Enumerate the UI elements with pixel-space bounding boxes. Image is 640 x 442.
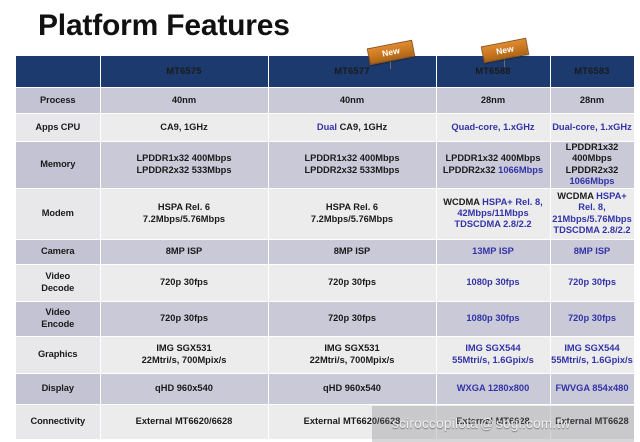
cell-text: 8MP ISP	[166, 246, 203, 256]
cell-text: 40nm	[172, 95, 196, 105]
table-row: ConnectivityExternal MT6620/6628External…	[16, 404, 634, 439]
cell-text: qHD 960x540	[155, 383, 213, 393]
cell-line: 720p 30fps	[269, 277, 436, 288]
table-cell: Dual-core, 1.xGHz	[550, 114, 634, 142]
cell-line: IMG SGX544	[551, 343, 634, 354]
cell-line: qHD 960x540	[101, 383, 268, 394]
cell-text-highlight: WXGA 1280x800	[457, 383, 530, 393]
table-cell: 40nm	[100, 88, 268, 114]
cell-line: 28nm	[437, 95, 550, 106]
table-cell: 28nm	[436, 88, 550, 114]
cell-text-highlight: 1066Mbps	[498, 165, 543, 175]
table-cell: LPDDR1x32 400MbpsLPDDR2x32 533Mbps	[100, 142, 268, 189]
table-row: Camera8MP ISP8MP ISP13MP ISP8MP ISP	[16, 239, 634, 264]
cell-text-highlight: Dual	[317, 122, 340, 132]
table-cell: IMG SGX53122Mtri/s, 700Mpix/s	[100, 336, 268, 373]
table-cell: CA9, 1GHz	[100, 114, 268, 142]
cell-text-highlight: TDSCDMA 2.8/2.2	[553, 225, 630, 235]
cell-line: Dual CA9, 1GHz	[269, 122, 436, 133]
row-label-video-encode: VideoEncode	[16, 301, 100, 336]
table-row: Process40nm40nm28nm28nm	[16, 88, 634, 114]
table-cell: 8MP ISP	[100, 239, 268, 264]
cell-line: FWVGA 854x480	[551, 383, 634, 394]
row-label-process: Process	[16, 88, 100, 114]
cell-text: IMG SGX531	[156, 343, 211, 353]
column-header-mt6575: MT6575	[100, 56, 268, 88]
table-cell: 720p 30fps	[100, 301, 268, 336]
cell-line: 1080p 30fps	[437, 277, 550, 288]
row-label-video-decode: VideoDecode	[16, 264, 100, 301]
cell-text: 7.2Mbps/5.76Mbps	[311, 214, 393, 224]
cell-text-highlight: 1080p 30fps	[466, 313, 519, 323]
table-cell: 8MP ISP	[268, 239, 436, 264]
cell-line: IMG SGX531	[269, 343, 436, 354]
cell-text: WCDMA	[443, 197, 482, 207]
table-row: VideoEncode720p 30fps720p 30fps1080p 30f…	[16, 301, 634, 336]
cell-line: External MT6620/6628	[101, 416, 268, 427]
row-label-line: Decode	[16, 283, 100, 294]
cell-line: 7.2Mbps/5.76Mbps	[269, 214, 436, 225]
row-label-line: Encode	[16, 319, 100, 330]
cell-line: External MT6628	[551, 416, 634, 427]
cell-line: IMG SGX544	[437, 343, 550, 354]
cell-text: External MT6628	[456, 416, 529, 426]
cell-text: HSPA Rel. 6	[326, 202, 378, 212]
cell-line: 8MP ISP	[551, 246, 634, 257]
cell-line: LPDDR2x32 1066Mbps	[551, 165, 634, 188]
cell-text-highlight: IMG SGX544	[465, 343, 520, 353]
cell-text: 28nm	[580, 95, 604, 105]
table-cell: 720p 30fps	[268, 264, 436, 301]
cell-line: WXGA 1280x800	[437, 383, 550, 394]
cell-text-highlight: 42Mbps/11Mbps	[457, 208, 528, 218]
cell-text: 8MP ISP	[334, 246, 371, 256]
cell-text-highlight: Dual-core, 1.xGHz	[552, 122, 632, 132]
table-cell: 28nm	[550, 88, 634, 114]
cell-text: 7.2Mbps/5.76Mbps	[143, 214, 225, 224]
cell-text: IMG SGX531	[324, 343, 379, 353]
cell-line: WCDMA HSPA+ Rel. 8,	[437, 197, 550, 208]
table-cell: External MT6620/6628	[100, 404, 268, 439]
cell-line: HSPA Rel. 6	[101, 202, 268, 213]
table-cell: WXGA 1280x800	[436, 373, 550, 404]
table-header-row: MT6575MT6577MT6588MT6583	[16, 56, 634, 88]
cell-line: 28nm	[551, 95, 634, 106]
cell-text: LPDDR2x32	[443, 165, 498, 175]
table-cell: qHD 960x540	[100, 373, 268, 404]
cell-text: External MT6620/6628	[136, 416, 233, 426]
cell-line: 55Mtri/s, 1.6Gpix/s	[437, 355, 550, 366]
cell-line: LPDDR2x32 533Mbps	[101, 165, 268, 176]
cell-text: LPDDR2x32	[566, 165, 619, 175]
table-cell: IMG SGX53122Mtri/s, 700Mpix/s	[268, 336, 436, 373]
cell-text: 720p 30fps	[160, 313, 208, 323]
cell-text: External MT6620/6628	[304, 416, 401, 426]
table-row: MemoryLPDDR1x32 400MbpsLPDDR2x32 533Mbps…	[16, 142, 634, 189]
cell-line: LPDDR2x32 1066Mbps	[437, 165, 550, 176]
cell-text: 720p 30fps	[328, 277, 376, 287]
cell-text: 40nm	[340, 95, 364, 105]
row-label-line: Video	[16, 307, 100, 318]
cell-text-highlight: 1080p 30fps	[466, 277, 519, 287]
cell-text: LPDDR1x32 400Mbps	[445, 153, 540, 163]
column-header-mt6583: MT6583	[550, 56, 634, 88]
table-cell: IMG SGX54455Mtri/s, 1.6Gpix/s	[550, 336, 634, 373]
table-cell: External MT6628	[550, 404, 634, 439]
cell-line: 720p 30fps	[551, 313, 634, 324]
cell-text-highlight: TDSCDMA 2.8/2.2	[454, 219, 531, 229]
table-cell: qHD 960x540	[268, 373, 436, 404]
table-cell: WCDMA HSPA+ Rel. 8,42Mbps/11MbpsTDSCDMA …	[436, 188, 550, 239]
table-cell: External MT6620/6628	[268, 404, 436, 439]
row-label-apps-cpu: Apps CPU	[16, 114, 100, 142]
cell-line: 40nm	[269, 95, 436, 106]
row-label-display: Display	[16, 373, 100, 404]
cell-text-highlight: IMG SGX544	[564, 343, 619, 353]
cell-text: WCDMA	[557, 191, 596, 201]
cell-text: External MT6628	[555, 416, 628, 426]
cell-line: LPDDR1x32 400Mbps	[551, 142, 634, 165]
cell-line: 8MP ISP	[101, 246, 268, 257]
cell-line: 1080p 30fps	[437, 313, 550, 324]
cell-text: CA9, 1GHz	[160, 122, 208, 132]
table-cell: 720p 30fps	[550, 264, 634, 301]
table-cell: IMG SGX54455Mtri/s, 1.6Gpix/s	[436, 336, 550, 373]
cell-text: 22Mtri/s, 700Mpix/s	[142, 355, 227, 365]
table-cell: LPDDR1x32 400MbpsLPDDR2x32 1066Mbps	[550, 142, 634, 189]
cell-line: 22Mtri/s, 700Mpix/s	[269, 355, 436, 366]
cell-text: 28nm	[481, 95, 505, 105]
table-cell: External MT6628	[436, 404, 550, 439]
cell-text-highlight: 55Mtri/s, 1.6Gpix/s	[551, 355, 633, 365]
row-label-graphics: Graphics	[16, 336, 100, 373]
table-row: Apps CPUCA9, 1GHzDual CA9, 1GHzQuad-core…	[16, 114, 634, 142]
cell-text: LPDDR2x32 533Mbps	[304, 165, 399, 175]
table-cell: FWVGA 854x480	[550, 373, 634, 404]
table-cell: 1080p 30fps	[436, 264, 550, 301]
cell-text: HSPA Rel. 6	[158, 202, 210, 212]
cell-line: IMG SGX531	[101, 343, 268, 354]
table-row: VideoDecode720p 30fps720p 30fps1080p 30f…	[16, 264, 634, 301]
cell-text-highlight: FWVGA 854x480	[555, 383, 628, 393]
cell-line: Quad-core, 1.xGHz	[437, 122, 550, 133]
cell-line: External MT6620/6628	[269, 416, 436, 427]
cell-text-highlight: HSPA+ Rel. 8,	[482, 197, 543, 207]
cell-line: TDSCDMA 2.8/2.2	[551, 225, 634, 236]
table-cell: HSPA Rel. 67.2Mbps/5.76Mbps	[100, 188, 268, 239]
table-cell: 40nm	[268, 88, 436, 114]
cell-line: LPDDR1x32 400Mbps	[269, 153, 436, 164]
cell-line: LPDDR2x32 533Mbps	[269, 165, 436, 176]
cell-line: LPDDR1x32 400Mbps	[101, 153, 268, 164]
row-label-camera: Camera	[16, 239, 100, 264]
cell-text: 720p 30fps	[160, 277, 208, 287]
table-header-corner	[16, 56, 100, 88]
cell-text-highlight: 720p 30fps	[568, 313, 616, 323]
table-row: DisplayqHD 960x540qHD 960x540WXGA 1280x8…	[16, 373, 634, 404]
slide-canvas: Platform Features MT6575MT6577MT6588MT65…	[0, 0, 640, 442]
cell-line: 22Mtri/s, 700Mpix/s	[101, 355, 268, 366]
row-label-modem: Modem	[16, 188, 100, 239]
cell-line: External MT6628	[437, 416, 550, 427]
table-cell: Quad-core, 1.xGHz	[436, 114, 550, 142]
cell-text: LPDDR1x32 400Mbps	[304, 153, 399, 163]
table-cell: 720p 30fps	[550, 301, 634, 336]
cell-line: 720p 30fps	[269, 313, 436, 324]
row-label-connectivity: Connectivity	[16, 404, 100, 439]
cell-text-highlight: Quad-core, 1.xGHz	[451, 122, 534, 132]
table-cell: WCDMA HSPA+ Rel. 8,21Mbps/5.76MbpsTDSCDM…	[550, 188, 634, 239]
cell-text: LPDDR2x32 533Mbps	[136, 165, 231, 175]
cell-text: 22Mtri/s, 700Mpix/s	[310, 355, 395, 365]
table-row: ModemHSPA Rel. 67.2Mbps/5.76MbpsHSPA Rel…	[16, 188, 634, 239]
cell-text: 720p 30fps	[328, 313, 376, 323]
cell-line: qHD 960x540	[269, 383, 436, 394]
cell-text: CA9, 1GHz	[340, 122, 388, 132]
cell-text-highlight: 8MP ISP	[574, 246, 611, 256]
platform-features-table: MT6575MT6577MT6588MT6583Process40nm40nm2…	[16, 56, 635, 440]
cell-line: 21Mbps/5.76Mbps	[551, 214, 634, 225]
row-label-line: Video	[16, 271, 100, 282]
table-cell: 1080p 30fps	[436, 301, 550, 336]
cell-text-highlight: 55Mtri/s, 1.6Gpix/s	[452, 355, 534, 365]
cell-line: TDSCDMA 2.8/2.2	[437, 219, 550, 230]
cell-text: qHD 960x540	[323, 383, 381, 393]
cell-line: 720p 30fps	[101, 313, 268, 324]
cell-line: 7.2Mbps/5.76Mbps	[101, 214, 268, 225]
cell-line: 55Mtri/s, 1.6Gpix/s	[551, 355, 634, 366]
table-cell: LPDDR1x32 400MbpsLPDDR2x32 1066Mbps	[436, 142, 550, 189]
column-header-mt6577: MT6577	[268, 56, 436, 88]
cell-line: LPDDR1x32 400Mbps	[437, 153, 550, 164]
row-label-memory: Memory	[16, 142, 100, 189]
cell-line: CA9, 1GHz	[101, 122, 268, 133]
table-row: GraphicsIMG SGX53122Mtri/s, 700Mpix/sIMG…	[16, 336, 634, 373]
table-cell: Dual CA9, 1GHz	[268, 114, 436, 142]
cell-text-highlight: 21Mbps/5.76Mbps	[552, 214, 632, 224]
cell-text: LPDDR1x32 400Mbps	[566, 142, 619, 163]
cell-line: WCDMA HSPA+ Rel. 8,	[551, 191, 634, 214]
cell-line: 8MP ISP	[269, 246, 436, 257]
cell-line: 42Mbps/11Mbps	[437, 208, 550, 219]
cell-text-highlight: 720p 30fps	[568, 277, 616, 287]
cell-line: 720p 30fps	[101, 277, 268, 288]
cell-text-highlight: 1066Mbps	[570, 176, 615, 186]
table-cell: HSPA Rel. 67.2Mbps/5.76Mbps	[268, 188, 436, 239]
table-body: MT6575MT6577MT6588MT6583Process40nm40nm2…	[16, 56, 634, 439]
cell-line: 40nm	[101, 95, 268, 106]
cell-line: 720p 30fps	[551, 277, 634, 288]
table-cell: 720p 30fps	[268, 301, 436, 336]
cell-line: Dual-core, 1.xGHz	[551, 122, 634, 133]
table-cell: 720p 30fps	[100, 264, 268, 301]
cell-text: LPDDR1x32 400Mbps	[136, 153, 231, 163]
table-cell: 13MP ISP	[436, 239, 550, 264]
table-cell: LPDDR1x32 400MbpsLPDDR2x32 533Mbps	[268, 142, 436, 189]
cell-line: 13MP ISP	[437, 246, 550, 257]
cell-line: HSPA Rel. 6	[269, 202, 436, 213]
table-cell: 8MP ISP	[550, 239, 634, 264]
cell-text-highlight: 13MP ISP	[472, 246, 514, 256]
page-title: Platform Features	[38, 6, 290, 46]
